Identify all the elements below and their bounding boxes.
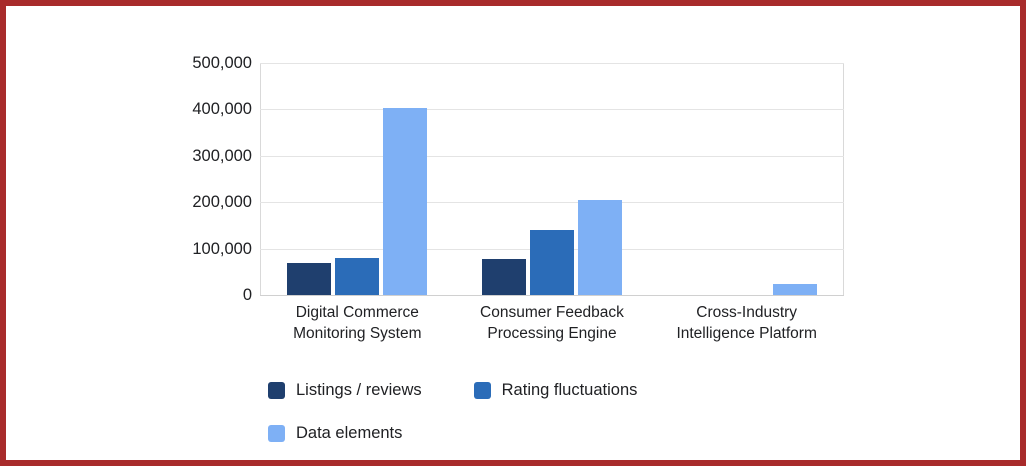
legend-item[interactable]: Data elements <box>268 425 402 442</box>
gridline <box>260 156 844 157</box>
x-axis-category-label: Cross-Industry Intelligence Platform <box>649 302 844 344</box>
x-axis-category-label: Digital Commerce Monitoring System <box>260 302 455 344</box>
page-frame: 0100,000200,000300,000400,000500,000 Dig… <box>0 0 1026 466</box>
gridline <box>260 109 844 110</box>
chart-legend: Listings / reviewsRating fluctuationsDat… <box>268 382 828 454</box>
legend-swatch-icon <box>474 382 491 399</box>
y-axis-tick-label: 300,000 <box>162 148 252 165</box>
bar-chart: 0100,000200,000300,000400,000500,000 Dig… <box>6 6 1020 460</box>
gridline <box>260 295 844 296</box>
legend-label: Listings / reviews <box>296 382 422 399</box>
y-axis-tick-label: 200,000 <box>162 194 252 211</box>
y-axis-tick-label: 0 <box>162 287 252 304</box>
legend-row: Data elements <box>268 425 454 442</box>
legend-item[interactable]: Rating fluctuations <box>474 382 638 399</box>
plot-area <box>260 63 844 295</box>
legend-label: Rating fluctuations <box>502 382 638 399</box>
legend-row: Listings / reviewsRating fluctuations <box>268 382 689 399</box>
y-axis-tick-label: 500,000 <box>162 55 252 72</box>
gridline <box>260 63 844 64</box>
y-axis: 0100,000200,000300,000400,000500,000 <box>156 63 252 295</box>
x-axis-category-label: Consumer Feedback Processing Engine <box>455 302 650 344</box>
plot-background <box>260 63 844 295</box>
legend-swatch-icon <box>268 425 285 442</box>
x-axis-category-labels: Digital Commerce Monitoring SystemConsum… <box>260 302 844 356</box>
legend-label: Data elements <box>296 425 402 442</box>
legend-swatch-icon <box>268 382 285 399</box>
gridline <box>260 249 844 250</box>
gridline <box>260 202 844 203</box>
y-axis-tick-label: 400,000 <box>162 101 252 118</box>
y-axis-tick-label: 100,000 <box>162 240 252 257</box>
legend-item[interactable]: Listings / reviews <box>268 382 422 399</box>
